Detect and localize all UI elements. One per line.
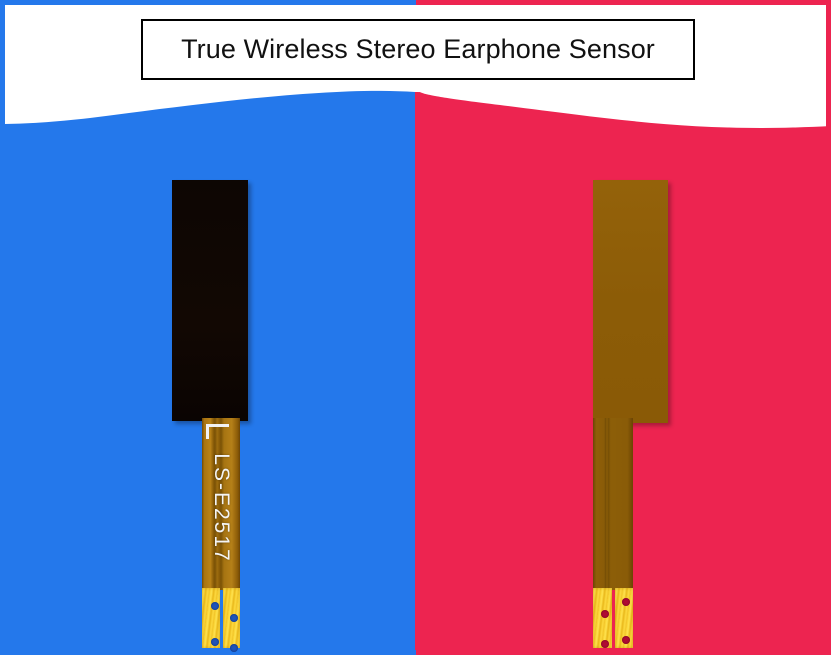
contact-pad	[223, 588, 241, 648]
pad-hole-icon	[601, 640, 609, 648]
pad-hole-icon	[230, 614, 238, 622]
slide-canvas: True Wireless Stereo Earphone Sensor LS-…	[0, 0, 831, 655]
pad-hole-icon	[211, 638, 219, 646]
pad-hole-icon	[230, 644, 238, 652]
contact-pad	[202, 588, 220, 648]
right-contact-pads	[593, 588, 633, 648]
contact-pad	[615, 588, 634, 648]
sensor-black-body	[172, 180, 248, 421]
page-title: True Wireless Stereo Earphone Sensor	[181, 34, 655, 65]
silkscreen-part-number: LS-E2517	[146, 487, 296, 529]
sensor-brown-body	[593, 180, 668, 423]
right-product-image	[575, 178, 670, 648]
silkscreen-bracket-mark	[206, 424, 229, 439]
pad-hole-icon	[601, 610, 609, 618]
title-box: True Wireless Stereo Earphone Sensor	[141, 19, 695, 80]
left-product-image: LS-E2517	[170, 178, 260, 648]
right-flex-cable	[593, 418, 633, 590]
pad-hole-icon	[211, 602, 219, 610]
left-contact-pads	[202, 588, 240, 648]
contact-pad	[593, 588, 612, 648]
pad-hole-icon	[622, 636, 630, 644]
pad-hole-icon	[622, 598, 630, 606]
